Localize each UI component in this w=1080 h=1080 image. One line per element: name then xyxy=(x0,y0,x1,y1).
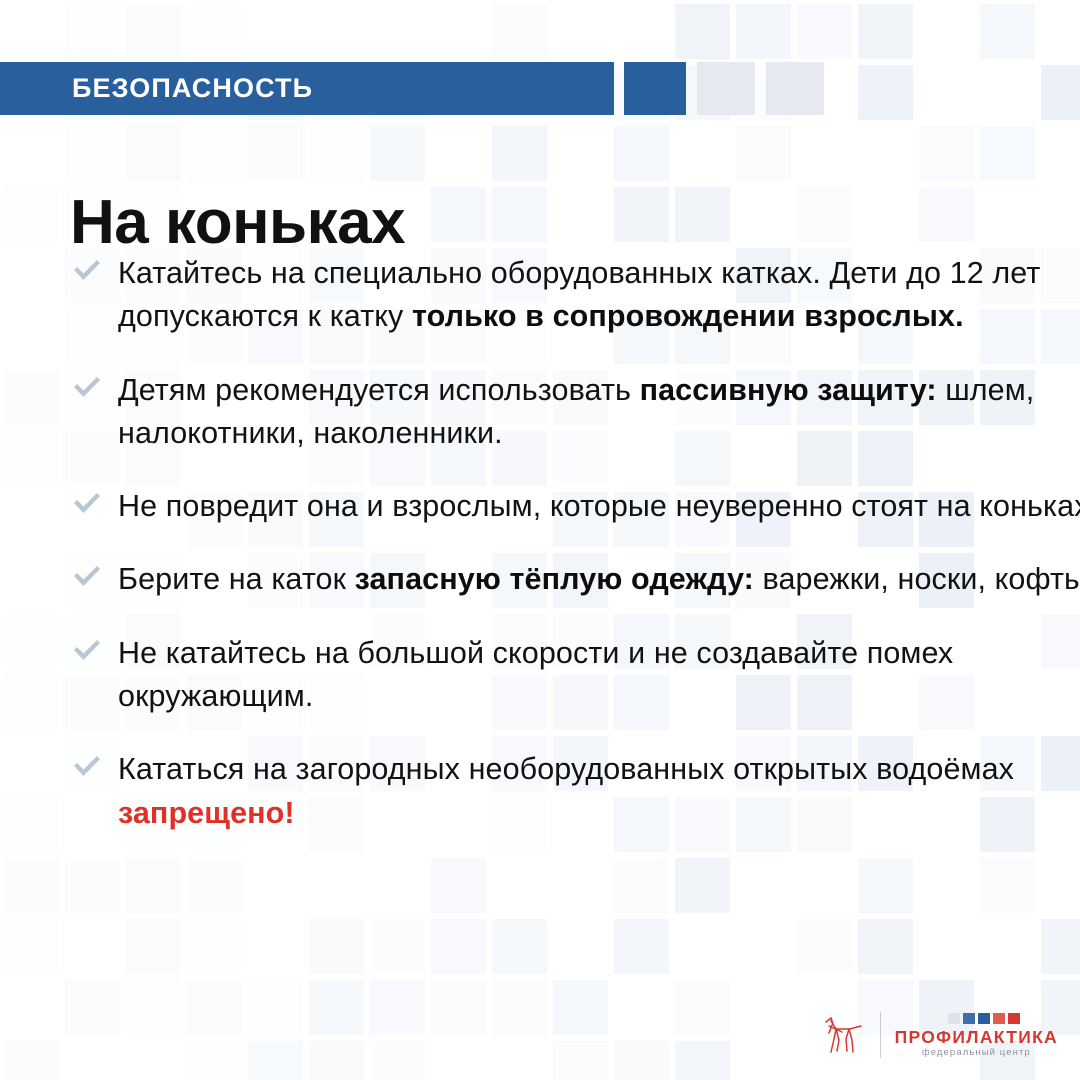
header-square-blue xyxy=(624,62,686,115)
logo-swatch-1 xyxy=(933,1013,945,1024)
logo-swatches xyxy=(933,1013,1020,1024)
safety-tip-text: Берите на каток запасную тёплую одежду: … xyxy=(118,558,1080,601)
safety-tip-item: Кататься на загородных необорудованных о… xyxy=(72,748,1062,835)
text-segment-normal: Детям рекомендуется использовать xyxy=(72,373,640,407)
safety-tip-item: Не повредит она и взрослым, которые неув… xyxy=(72,485,1062,528)
safety-tip-text: Катайтесь на специально оборудованных ка… xyxy=(118,252,1080,339)
logo-subtitle: федеральный центр xyxy=(922,1048,1031,1058)
logo-swatch-5 xyxy=(993,1013,1005,1024)
footer-logo: ПРОФИЛАКТИКА федеральный центр xyxy=(820,1012,1058,1058)
logo-divider xyxy=(880,1012,881,1058)
check-icon xyxy=(72,755,102,779)
safety-tip-item: Детям рекомендуется использовать пассивн… xyxy=(72,369,1062,456)
check-icon xyxy=(72,259,102,283)
check-icon xyxy=(72,492,102,516)
text-segment-normal: Не повредит она и взрослым, которые неув… xyxy=(72,489,1080,523)
text-segment-normal: Не катайтесь на большой скорости и не со… xyxy=(72,636,953,713)
text-segment-bold: запасную тёплую одежду: xyxy=(355,562,754,596)
horse-icon xyxy=(820,1013,866,1057)
safety-tip-text: Не повредит она и взрослым, которые неув… xyxy=(118,485,1080,528)
text-segment-normal: Берите на каток xyxy=(72,562,355,596)
text-segment-normal: варежки, носки, кофты. xyxy=(754,562,1080,596)
safety-tip-item: Катайтесь на специально оборудованных ка… xyxy=(72,252,1062,339)
check-icon xyxy=(72,565,102,589)
text-segment-bold: только в сопровождении взрослых. xyxy=(412,299,964,333)
safety-tip-text: Кататься на загородных необорудованных о… xyxy=(118,748,1080,835)
logo-wordmark: ПРОФИЛАКТИКА xyxy=(895,1029,1058,1047)
page-title: На коньках xyxy=(70,192,405,254)
text-segment-danger: запрещено! xyxy=(118,796,295,830)
logo-text-block: ПРОФИЛАКТИКА федеральный центр xyxy=(895,1013,1058,1058)
safety-tip-item: Берите на каток запасную тёплую одежду: … xyxy=(72,558,1062,601)
safety-tip-text: Детям рекомендуется использовать пассивн… xyxy=(118,369,1080,456)
logo-swatch-3 xyxy=(963,1013,975,1024)
logo-swatch-6 xyxy=(1008,1013,1020,1024)
check-icon xyxy=(72,376,102,400)
text-segment-normal: Кататься на загородных необорудованных о… xyxy=(72,752,1014,786)
header-kicker-label: БЕЗОПАСНОСТЬ xyxy=(72,73,313,104)
logo-swatch-4 xyxy=(978,1013,990,1024)
header-band: БЕЗОПАСНОСТЬ xyxy=(0,62,1080,115)
check-icon xyxy=(72,639,102,663)
safety-tip-item: Не катайтесь на большой скорости и не со… xyxy=(72,632,1062,719)
text-segment-bold: пассивную защиту: xyxy=(640,373,937,407)
safety-tips-list: Катайтесь на специально оборудованных ка… xyxy=(72,252,1062,835)
header-square-grey-2 xyxy=(766,62,824,115)
safety-tip-text: Не катайтесь на большой скорости и не со… xyxy=(118,632,1080,719)
logo-swatch-2 xyxy=(948,1013,960,1024)
header-kicker-bar: БЕЗОПАСНОСТЬ xyxy=(0,62,614,115)
header-square-grey-1 xyxy=(697,62,755,115)
